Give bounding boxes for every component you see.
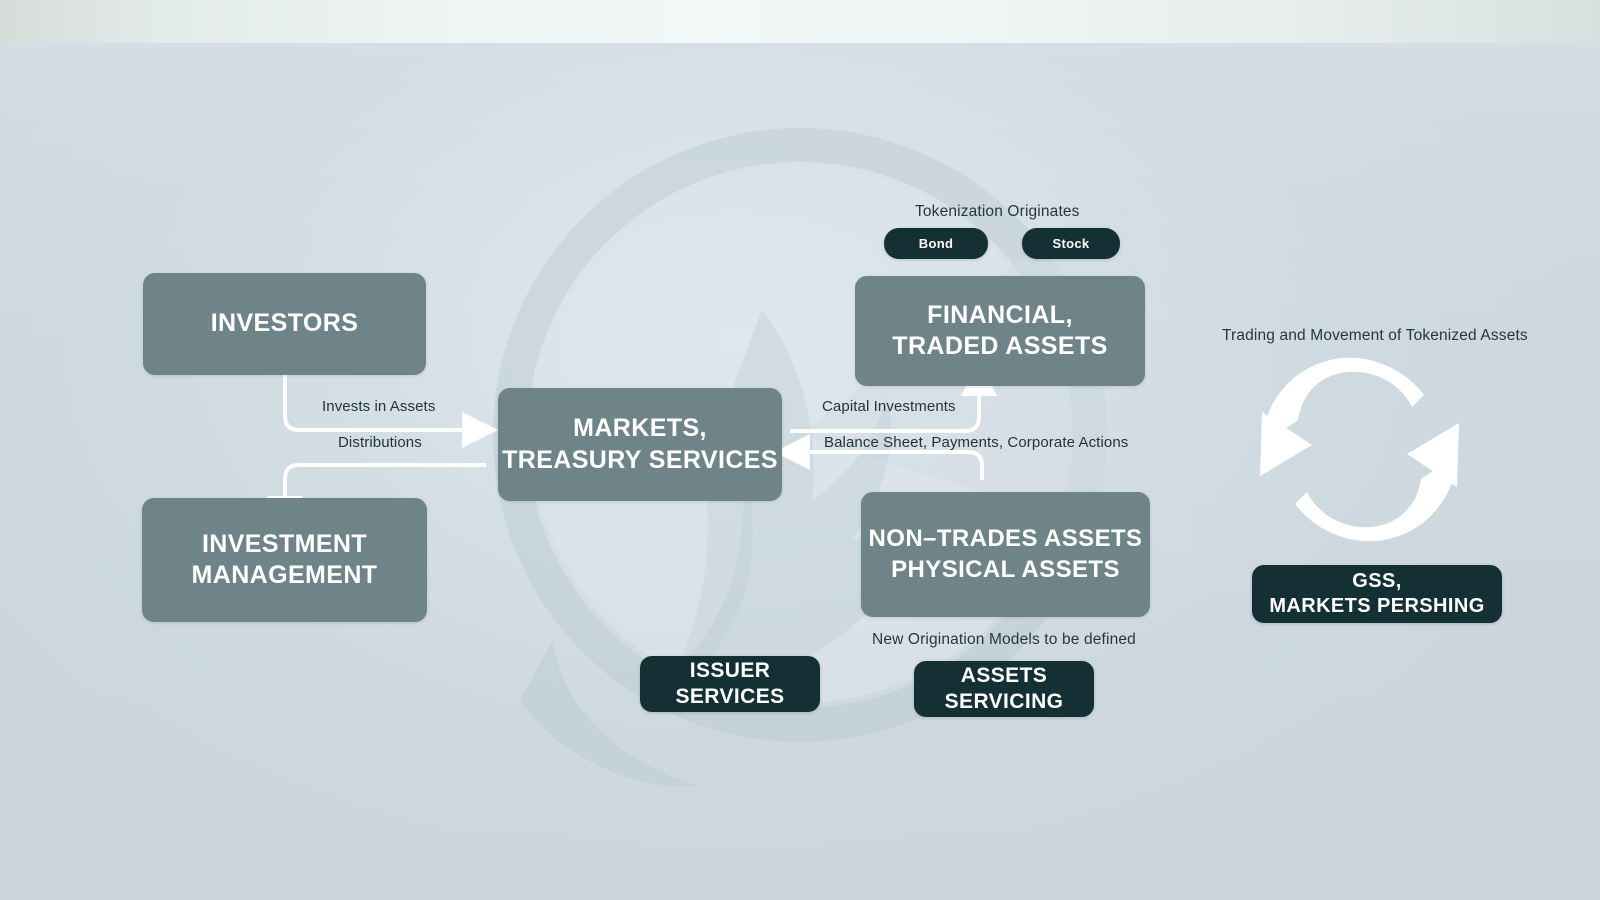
node-investment-management-line2: MANAGEMENT bbox=[192, 560, 378, 592]
flow-label-balance-sheet: Balance Sheet, Payments, Corporate Actio… bbox=[824, 434, 1128, 451]
caption-trading-movement: Trading and Movement of Tokenized Assets bbox=[1222, 327, 1528, 345]
node-investors[interactable]: INVESTORS bbox=[143, 273, 426, 375]
diagram-canvas: INVESTORS INVESTMENT MANAGEMENT MARKETS,… bbox=[0, 0, 1600, 900]
background-top-band bbox=[0, 0, 1600, 43]
node-issuer-services-line2: SERVICES bbox=[675, 684, 784, 710]
node-markets-treasury-services[interactable]: MARKETS, TREASURY SERVICES bbox=[498, 388, 782, 501]
node-financial-traded-assets[interactable]: FINANCIAL, TRADED ASSETS bbox=[855, 276, 1145, 386]
node-gss-line1: GSS, bbox=[1352, 569, 1401, 594]
node-gss-line2: MARKETS PERSHING bbox=[1269, 594, 1484, 619]
node-non-trades-physical-assets[interactable]: NON–TRADES ASSETS PHYSICAL ASSETS bbox=[861, 492, 1150, 617]
pill-stock[interactable]: Stock bbox=[1022, 228, 1120, 259]
node-investment-management[interactable]: INVESTMENT MANAGEMENT bbox=[142, 498, 427, 622]
node-gss-markets-pershing[interactable]: GSS, MARKETS PERSHING bbox=[1252, 565, 1502, 623]
pill-bond-label: Bond bbox=[919, 236, 953, 251]
node-non-trades-line2: PHYSICAL ASSETS bbox=[891, 555, 1120, 585]
node-financial-traded-line2: TRADED ASSETS bbox=[892, 331, 1107, 363]
node-markets-line2: TREASURY SERVICES bbox=[502, 445, 778, 477]
flow-label-capital-investments: Capital Investments bbox=[822, 398, 956, 415]
pill-bond[interactable]: Bond bbox=[884, 228, 988, 259]
flow-label-distributions: Distributions bbox=[338, 434, 422, 451]
node-assets-servicing-line2: SERVICING bbox=[945, 689, 1064, 715]
background-top-band-fade bbox=[0, 43, 1600, 59]
node-issuer-services-line1: ISSUER bbox=[690, 658, 771, 684]
caption-new-origination-models: New Origination Models to be defined bbox=[872, 631, 1136, 649]
node-non-trades-line1: NON–TRADES ASSETS bbox=[869, 524, 1143, 554]
node-assets-servicing-line1: ASSETS bbox=[961, 663, 1047, 689]
node-issuer-services[interactable]: ISSUER SERVICES bbox=[640, 656, 820, 712]
node-investors-label: INVESTORS bbox=[211, 308, 359, 340]
flow-label-invests-in-assets: Invests in Assets bbox=[322, 398, 435, 415]
node-financial-traded-line1: FINANCIAL, bbox=[927, 300, 1073, 332]
node-assets-servicing[interactable]: ASSETS SERVICING bbox=[914, 661, 1094, 717]
node-investment-management-line1: INVESTMENT bbox=[202, 529, 367, 561]
pill-stock-label: Stock bbox=[1053, 236, 1090, 251]
refresh-cycle-icon bbox=[1252, 352, 1467, 547]
node-markets-line1: MARKETS, bbox=[573, 413, 707, 445]
caption-tokenization-originates: Tokenization Originates bbox=[915, 203, 1080, 221]
